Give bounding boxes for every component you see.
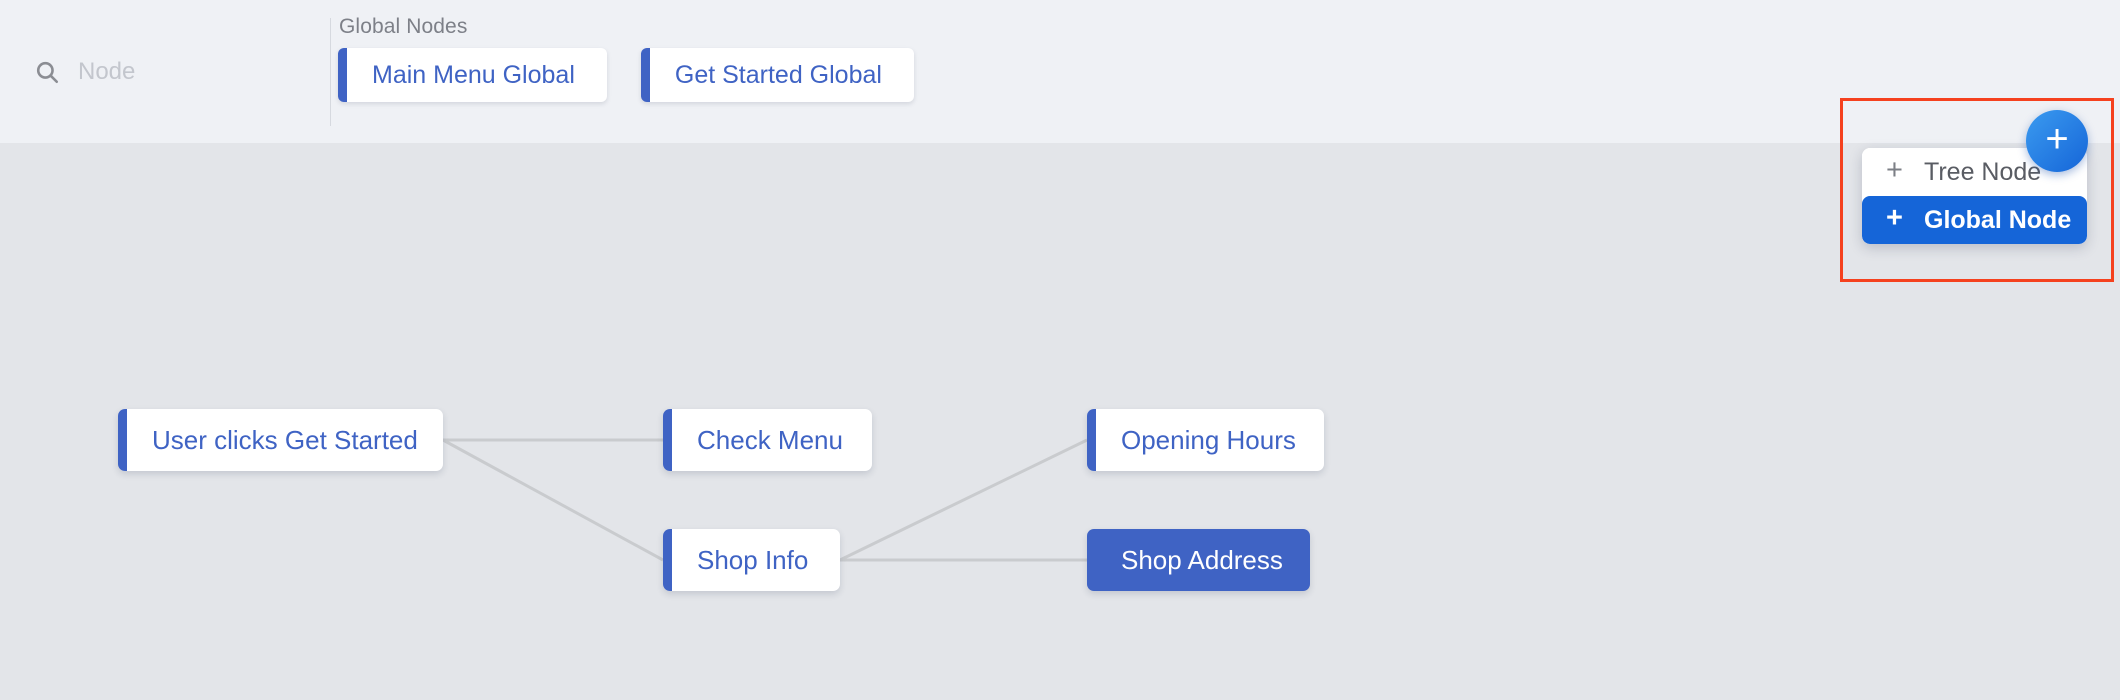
graph-node-check-menu[interactable]: Check Menu xyxy=(663,409,872,471)
global-node-chip-get-started-global[interactable]: Get Started Global xyxy=(641,48,914,102)
node-accent-bar xyxy=(663,409,672,471)
node-label: Check Menu xyxy=(697,425,843,456)
menu-item-label: Tree Node xyxy=(1924,158,2041,187)
graph-node-shop-info[interactable]: Shop Info xyxy=(663,529,840,591)
flow-editor: Global Nodes Main Menu Global Get Starte… xyxy=(0,0,2120,700)
plus-icon: + xyxy=(2045,119,2068,159)
graph-node-opening-hours[interactable]: Opening Hours xyxy=(1087,409,1324,471)
search-icon xyxy=(34,59,60,85)
node-accent-bar xyxy=(1087,409,1096,471)
graph-node-user-clicks-get-started[interactable]: User clicks Get Started xyxy=(118,409,443,471)
node-search[interactable] xyxy=(0,0,330,143)
node-accent-bar xyxy=(663,529,672,591)
plus-icon: + xyxy=(1886,204,1916,233)
header-divider xyxy=(330,18,331,126)
chip-accent-bar xyxy=(641,48,650,102)
edge-shop-info-to-opening-hours xyxy=(840,440,1087,560)
plus-icon: + xyxy=(1886,156,1916,185)
editor-header: Global Nodes Main Menu Global Get Starte… xyxy=(0,0,2120,143)
menu-item-global-node[interactable]: + Global Node xyxy=(1862,196,2087,244)
menu-item-label: Global Node xyxy=(1924,206,2071,235)
add-node-fab-button[interactable]: + xyxy=(2026,110,2088,172)
global-node-chip-main-menu-global[interactable]: Main Menu Global xyxy=(338,48,607,102)
node-label: Shop Info xyxy=(697,545,808,576)
node-label: Opening Hours xyxy=(1121,425,1296,456)
chip-label: Get Started Global xyxy=(675,61,882,90)
graph-canvas[interactable]: User clicks Get Started Check Menu Openi… xyxy=(0,143,2120,700)
node-label: Shop Address xyxy=(1121,545,1283,576)
global-nodes-label: Global Nodes xyxy=(338,12,914,42)
chip-label: Main Menu Global xyxy=(372,61,575,90)
search-input[interactable] xyxy=(78,58,288,86)
node-accent-bar xyxy=(118,409,127,471)
node-label: User clicks Get Started xyxy=(152,425,418,456)
global-nodes-section: Global Nodes Main Menu Global Get Starte… xyxy=(338,12,914,102)
chip-accent-bar xyxy=(338,48,347,102)
edge-get-started-to-shop-info xyxy=(443,440,663,560)
graph-node-shop-address[interactable]: Shop Address xyxy=(1087,529,1310,591)
global-nodes-list: Main Menu Global Get Started Global xyxy=(338,48,914,102)
